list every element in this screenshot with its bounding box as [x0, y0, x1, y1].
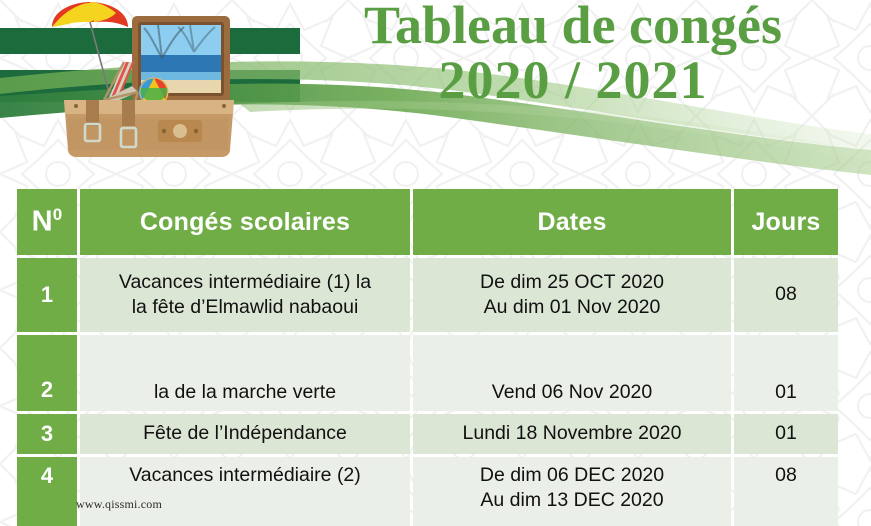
page-root: Tableau de congés 2020 / 2021 N0 Congés … [0, 0, 871, 526]
row-dates-4-line-1: De dim 06 DEC 2020 [413, 463, 731, 488]
row-conges-1-line-2: la fête d’Elmawlid nabaoui [80, 295, 410, 320]
column-header-dates: Dates [413, 189, 731, 255]
row-conges-3: Fête de l’Indépendance [80, 414, 410, 454]
table-row: 3 Fête de l’Indépendance Lundi 18 Novemb… [17, 414, 838, 454]
column-header-conges: Congés scolaires [80, 189, 410, 255]
table-header-row: N0 Congés scolaires Dates Jours [17, 189, 838, 255]
row-number-1: 1 [17, 258, 77, 332]
row-jours-1: 08 [734, 258, 838, 332]
row-dates-4-line-2: Au dim 13 DEC 2020 [413, 488, 731, 513]
row-jours-3: 01 [734, 414, 838, 454]
column-header-no-sup: 0 [53, 205, 63, 224]
holidays-table-container: N0 Congés scolaires Dates Jours 1 Vacanc… [14, 186, 838, 526]
row-conges-1: Vacances intermédiaire (1) la la fête d’… [80, 258, 410, 332]
row-dates-4: De dim 06 DEC 2020 Au dim 13 DEC 2020 [413, 457, 731, 526]
row-conges-1-line-1: Vacances intermédiaire (1) la [80, 270, 410, 295]
row-number-3: 3 [17, 414, 77, 454]
row-jours-2: 01 [734, 335, 838, 411]
row-dates-2: Vend 06 Nov 2020 [413, 335, 731, 411]
column-header-no: N0 [17, 189, 77, 255]
row-conges-2-line-1: la de la marche verte [80, 380, 410, 405]
row-conges-4-line-1: Vacances intermédiaire (2) [80, 463, 410, 488]
holidays-table: N0 Congés scolaires Dates Jours 1 Vacanc… [14, 186, 841, 526]
row-dates-3: Lundi 18 Novembre 2020 [413, 414, 731, 454]
row-dates-1: De dim 25 OCT 2020 Au dim 01 Nov 2020 [413, 258, 731, 332]
row-dates-1-line-1: De dim 25 OCT 2020 [413, 270, 731, 295]
column-header-jours: Jours [734, 189, 838, 255]
row-conges-4: Vacances intermédiaire (2) [80, 457, 410, 526]
row-number-4: 4 [17, 457, 77, 526]
row-jours-4: 08 [734, 457, 838, 526]
row-dates-3-line-1: Lundi 18 Novembre 2020 [413, 421, 731, 446]
row-dates-1-line-2: Au dim 01 Nov 2020 [413, 295, 731, 320]
table-row: 4 Vacances intermédiaire (2) De dim 06 D… [17, 457, 838, 526]
table-row: 1 Vacances intermédiaire (1) la la fête … [17, 258, 838, 332]
column-header-no-label: N [32, 206, 53, 238]
page-title: Tableau de congés 2020 / 2021 [293, 0, 853, 108]
row-dates-2-line-1: Vend 06 Nov 2020 [413, 380, 731, 405]
title-line-1: Tableau de congés [293, 0, 853, 53]
row-conges-3-line-1: Fête de l’Indépendance [80, 421, 410, 446]
table-row: 2 la de la marche verte Vend 06 Nov 2020… [17, 335, 838, 411]
title-line-2: 2020 / 2021 [293, 53, 853, 108]
suitcase-beach-illustration [38, 0, 258, 165]
row-number-2: 2 [17, 335, 77, 411]
row-conges-2: la de la marche verte [80, 335, 410, 411]
site-watermark: www.qissmi.com [76, 497, 162, 512]
